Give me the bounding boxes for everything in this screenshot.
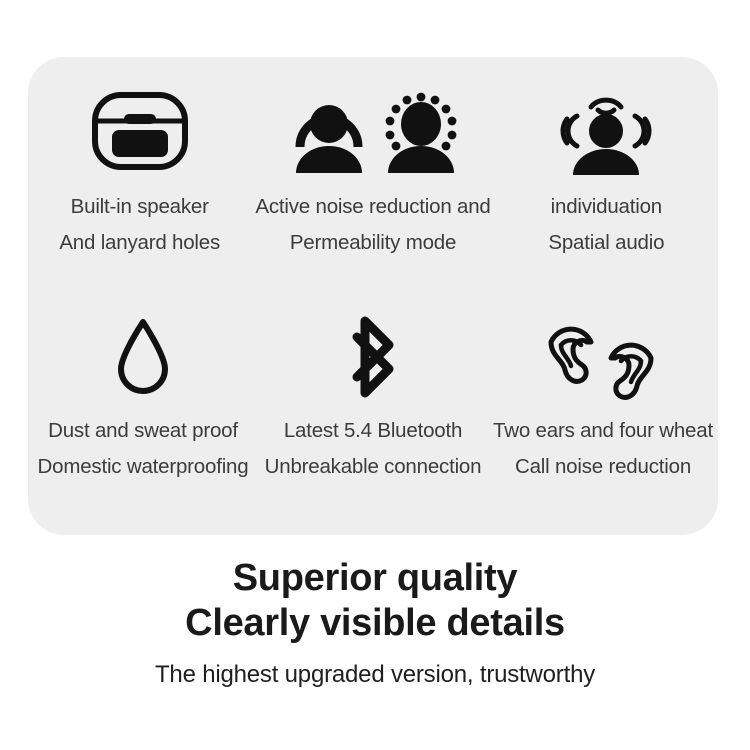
feature-cell-active-noise-reduction: Active noise reduction and Permeability … [251,83,494,311]
headline-line-2: Clearly visible details [0,601,750,646]
feature-caption-line1: Latest 5.4 Bluetooth [284,413,462,449]
feature-row-bottom: Dust and sweat proof Domestic waterproof… [28,311,718,523]
feature-cell-spatial-audio: individuation Spatial audio [495,83,718,311]
bluetooth-icon [335,311,411,403]
spatial-audio-person-icon [551,83,661,179]
anc-transparency-persons-icon [283,83,463,179]
earbud-case-icon [88,83,192,179]
feature-caption-line2: Domestic waterproofing [38,449,249,485]
feature-caption-line1: Two ears and four wheat [493,413,713,449]
feature-cell-bluetooth: Latest 5.4 Bluetooth Unbreakable connect… [258,311,488,523]
feature-caption-line1: Dust and sweat proof [48,413,238,449]
feature-cell-waterproof: Dust and sweat proof Domestic waterproof… [28,311,258,523]
marketing-block: Superior quality Clearly visible details… [0,556,750,692]
features-card: Built-in speaker And lanyard holes [28,57,718,535]
feature-row-top: Built-in speaker And lanyard holes [28,83,718,311]
marketing-subline: The highest upgraded version, trustworth… [0,658,750,692]
feature-caption-line1: individuation [551,189,662,225]
headline-line-1: Superior quality [0,556,750,601]
water-drop-icon [107,311,179,403]
feature-caption-line2: And lanyard holes [59,225,220,261]
feature-cell-two-ears: Two ears and four wheat Call noise reduc… [488,311,718,523]
feature-caption-line1: Built-in speaker [71,189,209,225]
feature-caption-line2: Spatial audio [548,225,664,261]
feature-caption-line1: Active noise reduction and [255,189,490,225]
feature-cell-built-in-speaker: Built-in speaker And lanyard holes [28,83,251,311]
feature-caption-line2: Permeability mode [290,225,456,261]
feature-caption-line2: Unbreakable connection [265,449,482,485]
two-ears-icon [545,311,661,403]
feature-caption-line2: Call noise reduction [515,449,691,485]
